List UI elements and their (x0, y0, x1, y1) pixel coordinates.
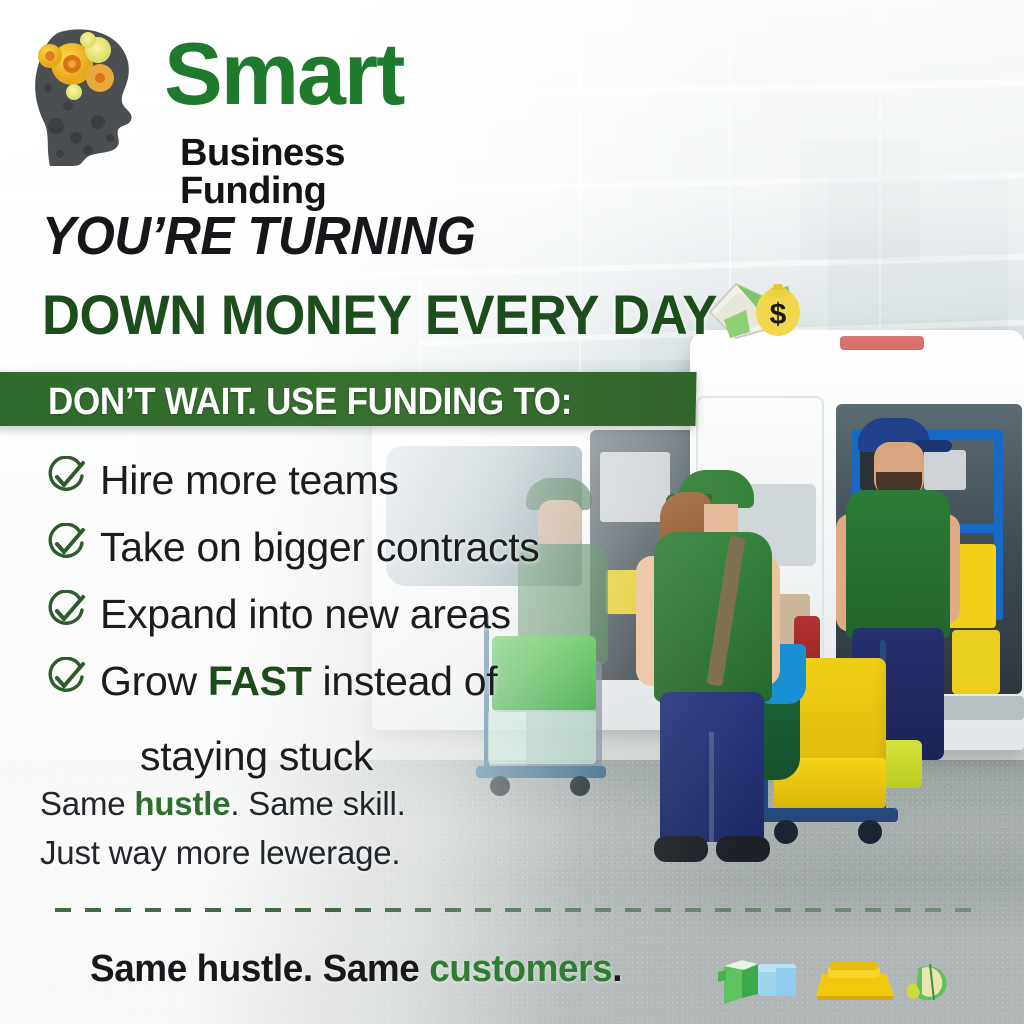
brand-name: Smart (164, 30, 403, 118)
poster-content: Smart Business Funding YOU’RE TURNING DO… (0, 0, 1024, 1024)
check-circle-icon (44, 590, 88, 634)
list-item-continuation: staying stuck (140, 733, 373, 780)
head-with-gears-icon (30, 26, 148, 166)
list-item-label: Take on bigger contracts (100, 517, 540, 577)
yellow-bucket-icon (816, 962, 894, 1000)
list-item-text-lead: Grow (100, 658, 208, 704)
dashed-divider (55, 908, 985, 912)
brand-logo[interactable]: Smart Business Funding (30, 22, 480, 172)
subtext-lead: Same (40, 785, 134, 822)
subtext-line-1: Same hustle. Same skill. (40, 785, 406, 823)
list-item: Take on bigger contracts (40, 517, 600, 577)
spray-bottle-and-bucket-icon (718, 960, 796, 1004)
headline-line-2: DOWN MONEY EVERY DAY (42, 282, 717, 347)
footer-suffix: . (612, 948, 622, 990)
check-circle-icon (44, 657, 88, 701)
funding-banner-label: DON’T WAIT. USE FUNDING TO: (48, 381, 572, 424)
list-item-label: Hire more teams (100, 450, 399, 510)
subtext-tail: . Same skill. (230, 785, 405, 822)
check-circle-icon (44, 456, 88, 500)
brand-tagline: Business Funding (180, 134, 480, 210)
footer-prefix: Same hustle. Same (90, 948, 429, 990)
list-item-label: Grow FAST instead of (100, 651, 497, 711)
list-item: Hire more teams (40, 450, 600, 510)
list-item-emphasis: FAST (208, 658, 312, 704)
list-item: Grow FAST instead of (40, 651, 600, 711)
subtext-line-2: Just way more lewerage. (40, 834, 400, 872)
footer-icon-row (718, 952, 948, 1008)
footer-tagline: Same hustle. Same customers. (90, 948, 622, 991)
subtext-highlight: hustle (134, 785, 230, 822)
benefits-list: Hire more teams Take on bigger contracts (40, 450, 600, 718)
poster-canvas: Smart Business Funding YOU’RE TURNING DO… (0, 0, 1024, 1024)
list-item: Expand into new areas (40, 584, 600, 644)
svg-text:$: $ (770, 298, 787, 331)
headline-line-1: YOU’RE TURNING (42, 205, 475, 267)
check-circle-icon (44, 523, 88, 567)
footer-highlight: customers (429, 948, 612, 990)
money-with-wings-icon: $ (706, 268, 802, 346)
list-item-label: Expand into new areas (100, 584, 511, 644)
list-item-text-tail: instead of (311, 658, 497, 704)
green-brush-icon (906, 964, 946, 1000)
